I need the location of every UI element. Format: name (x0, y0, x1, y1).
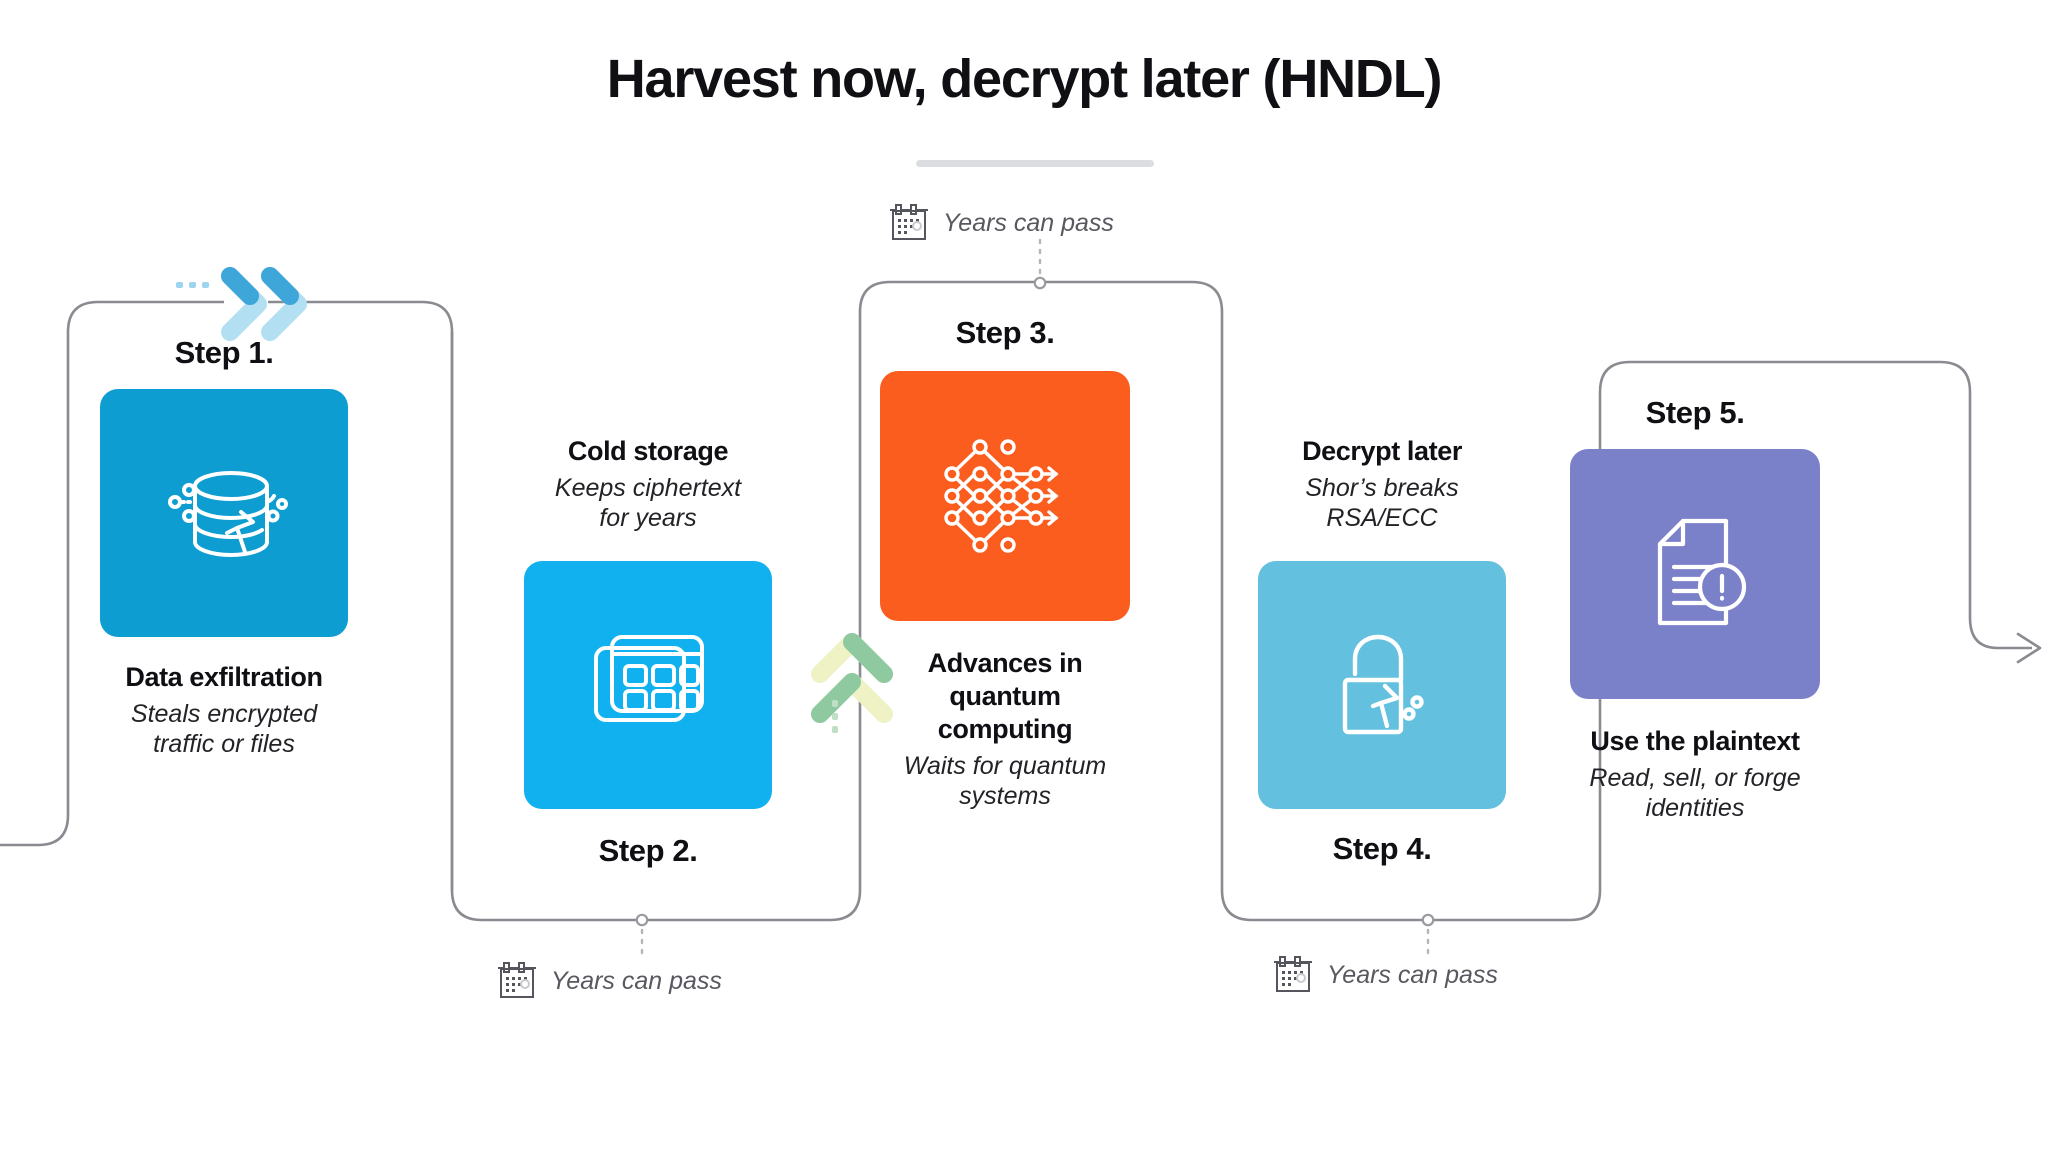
step-3-caption-sub: Waits for quantum systems (840, 751, 1170, 811)
step-3-title-line-2: quantum (840, 680, 1170, 713)
chevron-trail-dots (176, 278, 220, 297)
step-3-sub-line-2: systems (840, 781, 1170, 811)
step-3-caption: Advances in quantum computing Waits for … (840, 647, 1170, 811)
step-5-number: Step 5. (1530, 395, 1860, 431)
note-years-can-pass-2: Years can pass (496, 960, 722, 1002)
note-years-can-pass-1: Years can pass (888, 202, 1114, 244)
step-1-caption-sub: Steals encrypted traffic or files (74, 699, 374, 759)
step-5-tile (1570, 449, 1820, 699)
step-5-sub-line-2: identities (1530, 793, 1860, 823)
step-5-caption-title: Use the plaintext (1530, 725, 1860, 758)
note-text-2: Years can pass (551, 967, 722, 996)
step-2-number: Step 2. (498, 833, 798, 869)
step-5-caption-sub: Read, sell, or forge identities (1530, 763, 1860, 823)
calendar-icon (888, 202, 930, 244)
database-crack-icon (149, 438, 299, 588)
note-years-can-pass-3: Years can pass (1272, 954, 1498, 996)
step-4: Decrypt later Shor’s breaks RSA/ECC Step… (1232, 435, 1532, 867)
document-alert-icon (1620, 499, 1770, 649)
note-text-1: Years can pass (943, 209, 1114, 238)
step-1-tile (100, 389, 348, 637)
cold-storage-grid-icon (573, 610, 723, 760)
step-3: Step 3. (840, 315, 1170, 811)
step-2-sub-line-1: Keeps ciphertext (498, 473, 798, 503)
calendar-icon (1272, 954, 1314, 996)
step-2-caption: Cold storage Keeps ciphertext for years (498, 435, 798, 533)
step-3-tile (880, 371, 1130, 621)
step-1-sub-line-2: traffic or files (74, 729, 374, 759)
step-3-caption-title: Advances in quantum computing (840, 647, 1170, 746)
step-3-title-line-1: Advances in (840, 647, 1170, 680)
step-1-caption: Data exfiltration Steals encrypted traff… (74, 661, 374, 759)
step-2-sub-line-2: for years (498, 503, 798, 533)
step-4-sub-line-2: RSA/ECC (1232, 503, 1532, 533)
step-4-number: Step 4. (1232, 831, 1532, 867)
step-3-title-line-3: computing (840, 713, 1170, 746)
infographic-canvas: Harvest now, decrypt later (HNDL) (0, 0, 2048, 1152)
step-1: Step 1. (74, 335, 374, 759)
step-1-number: Step 1. (74, 335, 374, 371)
step-2-caption-sub: Keeps ciphertext for years (498, 473, 798, 533)
step-4-caption-sub: Shor’s breaks RSA/ECC (1232, 473, 1532, 533)
step-4-tile (1258, 561, 1506, 809)
step-5-caption: Use the plaintext Read, sell, or forge i… (1530, 725, 1860, 823)
step-4-caption: Decrypt later Shor’s breaks RSA/ECC (1232, 435, 1532, 533)
step-3-number: Step 3. (840, 315, 1170, 351)
step-1-sub-line-1: Steals encrypted (74, 699, 374, 729)
note-text-3: Years can pass (1327, 961, 1498, 990)
quantum-network-icon (930, 421, 1080, 571)
step-4-caption-title: Decrypt later (1232, 435, 1532, 468)
calendar-icon (496, 960, 538, 1002)
step-3-sub-line-1: Waits for quantum (840, 751, 1170, 781)
step-2-caption-title: Cold storage (498, 435, 798, 468)
broken-padlock-icon (1307, 610, 1457, 760)
step-5: Step 5. Use the plaintext Read, sell, or… (1530, 395, 1860, 823)
step-1-caption-title: Data exfiltration (74, 661, 374, 694)
step-2: Cold storage Keeps ciphertext for years (498, 435, 798, 869)
step-4-sub-line-1: Shor’s breaks (1232, 473, 1532, 503)
step-5-sub-line-1: Read, sell, or forge (1530, 763, 1860, 793)
step-2-tile (524, 561, 772, 809)
